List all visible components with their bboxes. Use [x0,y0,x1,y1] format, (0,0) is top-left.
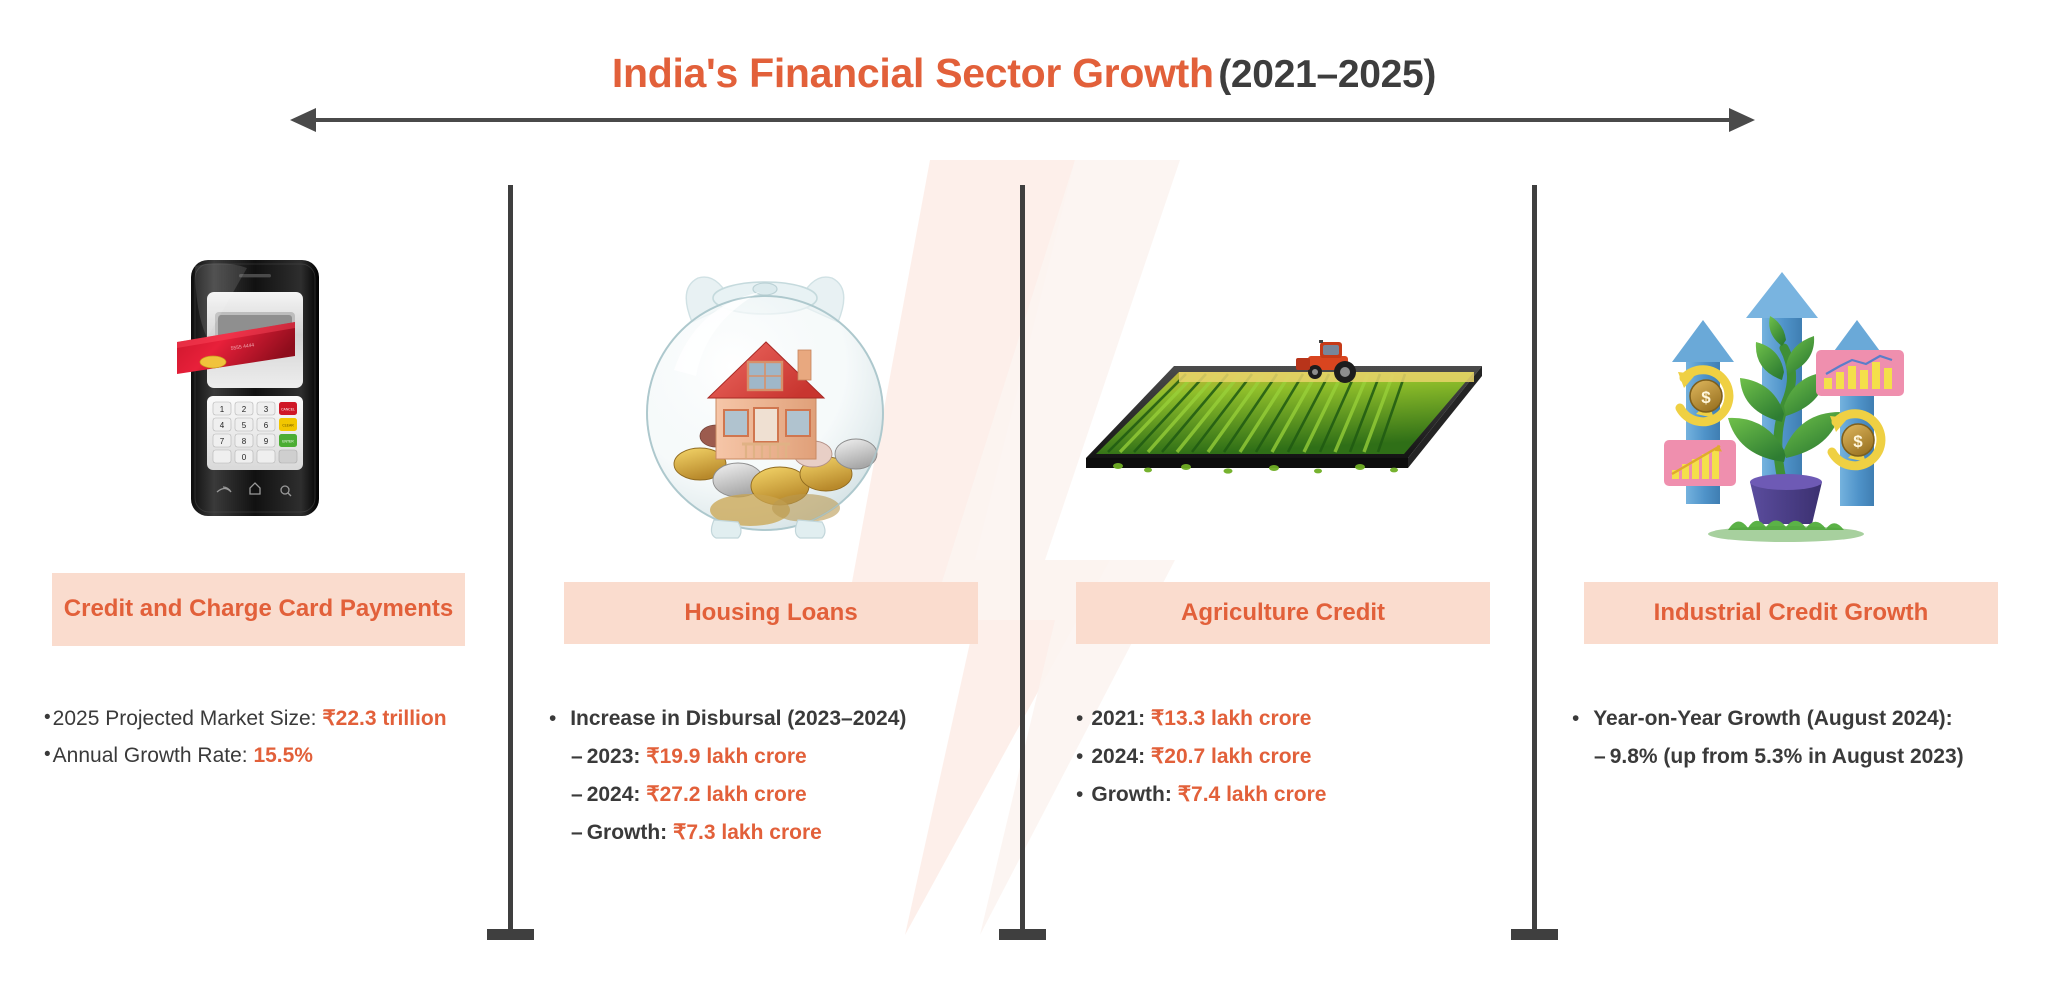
fact-label: 2024: [587,782,641,809]
fact-item: • Increase in Disbursal (2023–2024) [549,706,1019,733]
arrow-head-right-icon [1729,108,1755,132]
fact-value: ₹27.2 lakh crore [646,782,806,809]
fact-value: ₹22.3 trillion [322,706,446,733]
facts-industrial-credit-growth: • Year-on-Year Growth (August 2024): – 9… [1572,706,2042,782]
fact-value: 15.5% [253,743,313,770]
fact-item: – 2024: ₹27.2 lakh crore [549,782,1019,809]
badge-housing-loans: Housing Loans [564,582,978,644]
svg-text:CLEAR: CLEAR [282,424,294,428]
timeline-double-arrow [290,108,1755,132]
fact-item: • Year-on-Year Growth (August 2024): [1572,706,2042,733]
tractor-farm-field-tablet-illustration [1078,340,1490,510]
section-industrial-credit-growth: $ $ Industrial Credit Growth • Year-on-Y… [1532,0,2048,983]
badge-agriculture-credit: Agriculture Credit [1076,582,1490,644]
svg-text:6: 6 [264,421,269,430]
fact-label: Growth: [1091,782,1171,809]
page-title-main: India's Financial Sector Growth [612,50,1214,96]
page-title: India's Financial Sector Growth (2021–20… [0,50,2048,97]
fact-item: • Annual Growth Rate: 15.5% [44,743,514,770]
bullet-icon: • [44,743,51,767]
bullet-icon: • [1076,706,1083,733]
badge-industrial-credit-growth: Industrial Credit Growth [1584,582,1998,644]
bar-chart-badge-right-icon [1816,350,1904,396]
fact-label: 2021: [1091,706,1145,733]
fact-item: • Growth: ₹7.4 lakh crore [1076,782,1516,809]
fact-value: ₹20.7 lakh crore [1151,744,1311,771]
pos-terminal-credit-card-illustration: 5555 4444 123 456 [155,250,355,550]
fact-label: Growth: [587,820,667,847]
svg-text:0: 0 [242,453,247,462]
fact-label: Increase in Disbursal (2023–2024) [570,706,906,733]
svg-text:8: 8 [242,437,247,446]
fact-label: Annual Growth Rate: [53,743,248,770]
svg-text:4: 4 [220,421,225,430]
fact-label: 2024: [1091,744,1145,771]
dash-icon: – [571,744,583,771]
dash-icon: – [1594,744,1606,771]
fact-label: 2023: [587,744,641,771]
badge-credit-and-charge-card-payments: Credit and Charge Card Payments [52,573,465,646]
facts-housing-loans: • Increase in Disbursal (2023–2024) – 20… [549,706,1019,858]
fact-value: ₹19.9 lakh crore [646,744,806,771]
fact-value: ₹7.4 lakh crore [1178,782,1327,809]
plant-icon [1728,316,1840,480]
infographic-page: India's Financial Sector Growth (2021–20… [0,0,2048,983]
fact-item: • 2025 Projected Market Size: ₹22.3 tril… [44,706,514,733]
fact-value: ₹7.3 lakh crore [673,820,822,847]
piggy-bank-house-coins-illustration [630,258,900,553]
fact-item: – 2023: ₹19.9 lakh crore [549,744,1019,771]
growth-arrows-plant-charts-illustration: $ $ [1650,262,1930,550]
fact-label: Year-on-Year Growth (August 2024): [1593,706,1952,733]
fact-item: – 9.8% (up from 5.3% in August 2023) [1572,744,2042,771]
bullet-icon: • [1572,706,1579,733]
fact-label: 9.8% (up from 5.3% in August 2023) [1610,744,1964,771]
fact-item: • 2024: ₹20.7 lakh crore [1076,744,1516,771]
bullet-icon: • [549,706,556,733]
svg-text:1: 1 [220,405,225,414]
section-agriculture-credit: Agriculture Credit • 2021: ₹13.3 lakh cr… [1020,0,1532,983]
fact-item: – Growth: ₹7.3 lakh crore [549,820,1019,847]
svg-text:$: $ [1701,388,1711,407]
facts-agriculture-credit: • 2021: ₹13.3 lakh crore • 2024: ₹20.7 l… [1076,706,1516,820]
svg-text:2: 2 [242,405,247,414]
facts-credit-and-charge-card-payments: • 2025 Projected Market Size: ₹22.3 tril… [44,706,514,780]
bullet-icon: • [44,706,51,730]
svg-text:3: 3 [264,405,269,414]
fact-item: • 2021: ₹13.3 lakh crore [1076,706,1516,733]
svg-text:7: 7 [220,437,225,446]
arrow-head-left-icon [290,108,316,132]
fact-value: ₹13.3 lakh crore [1151,706,1311,733]
dash-icon: – [571,820,583,847]
dash-icon: – [571,782,583,809]
svg-text:5: 5 [242,421,247,430]
svg-text:$: $ [1853,432,1863,451]
svg-text:CANCEL: CANCEL [281,408,295,412]
svg-text:ENTER: ENTER [282,440,294,444]
bar-chart-badge-left-icon [1664,440,1736,486]
fact-label: 2025 Projected Market Size: [53,706,317,733]
svg-text:9: 9 [264,437,269,446]
section-credit-and-charge-card-payments: 5555 4444 123 456 [0,0,508,983]
section-housing-loans: Housing Loans • Increase in Disbursal (2… [508,0,1020,983]
page-title-years: (2021–2025) [1218,53,1436,96]
bullet-icon: • [1076,744,1083,771]
bullet-icon: • [1076,782,1083,809]
